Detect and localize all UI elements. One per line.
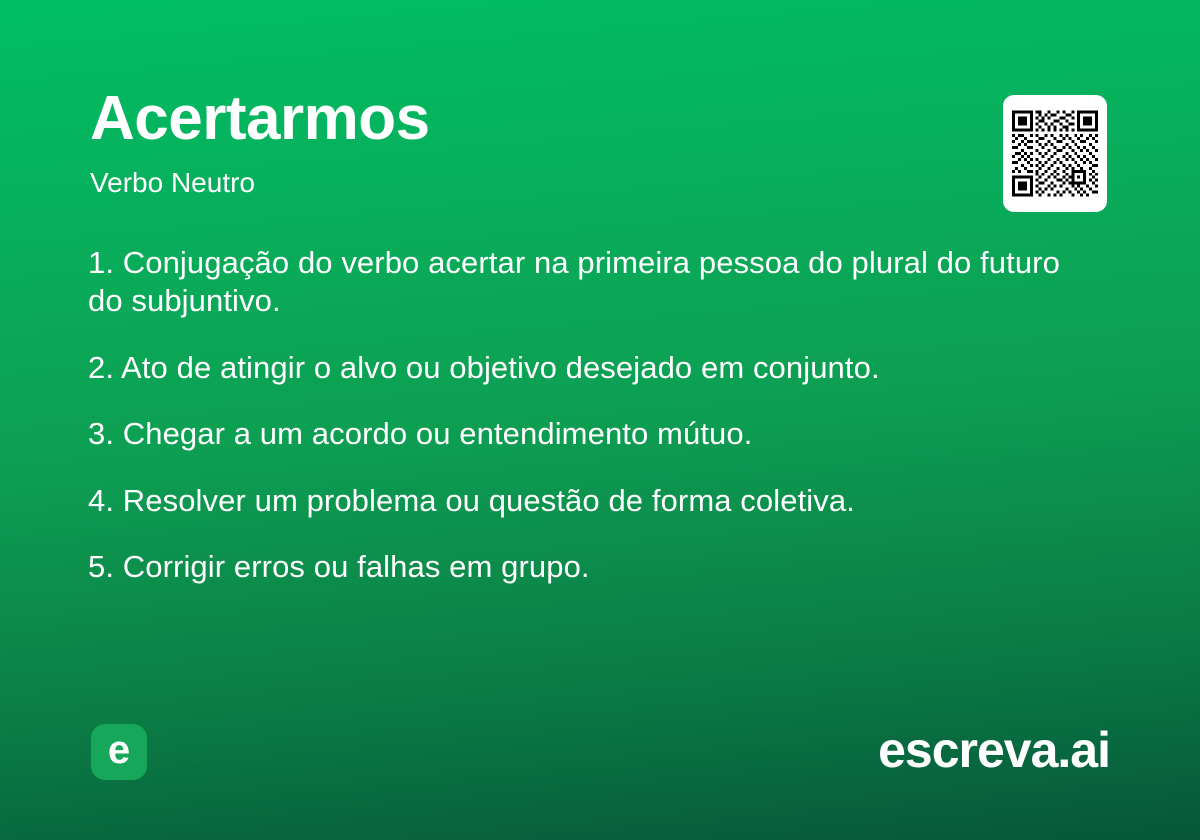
brand-wordmark: escreva.ai (878, 723, 1110, 778)
list-item: 2. Ato de atingir o alvo ou objetivo des… (88, 349, 1098, 387)
logo-letter: e (108, 730, 130, 770)
escreva-logo-icon: e (91, 724, 147, 780)
definition-card: Acertarmos Verbo Neutro (0, 0, 1200, 840)
list-item: 5. Corrigir erros ou falhas em grupo. (88, 548, 1098, 586)
list-item: 4. Resolver um problema ou questão de fo… (88, 482, 1098, 520)
list-item: 1. Conjugação do verbo acertar na primei… (88, 244, 1098, 321)
qr-code-icon[interactable] (1003, 95, 1107, 212)
list-item: 3. Chegar a um acordo ou entendimento mú… (88, 415, 1098, 453)
page-title: Acertarmos (90, 88, 430, 150)
definition-list: 1. Conjugação do verbo acertar na primei… (88, 244, 1098, 587)
part-of-speech-label: Verbo Neutro (90, 166, 255, 200)
